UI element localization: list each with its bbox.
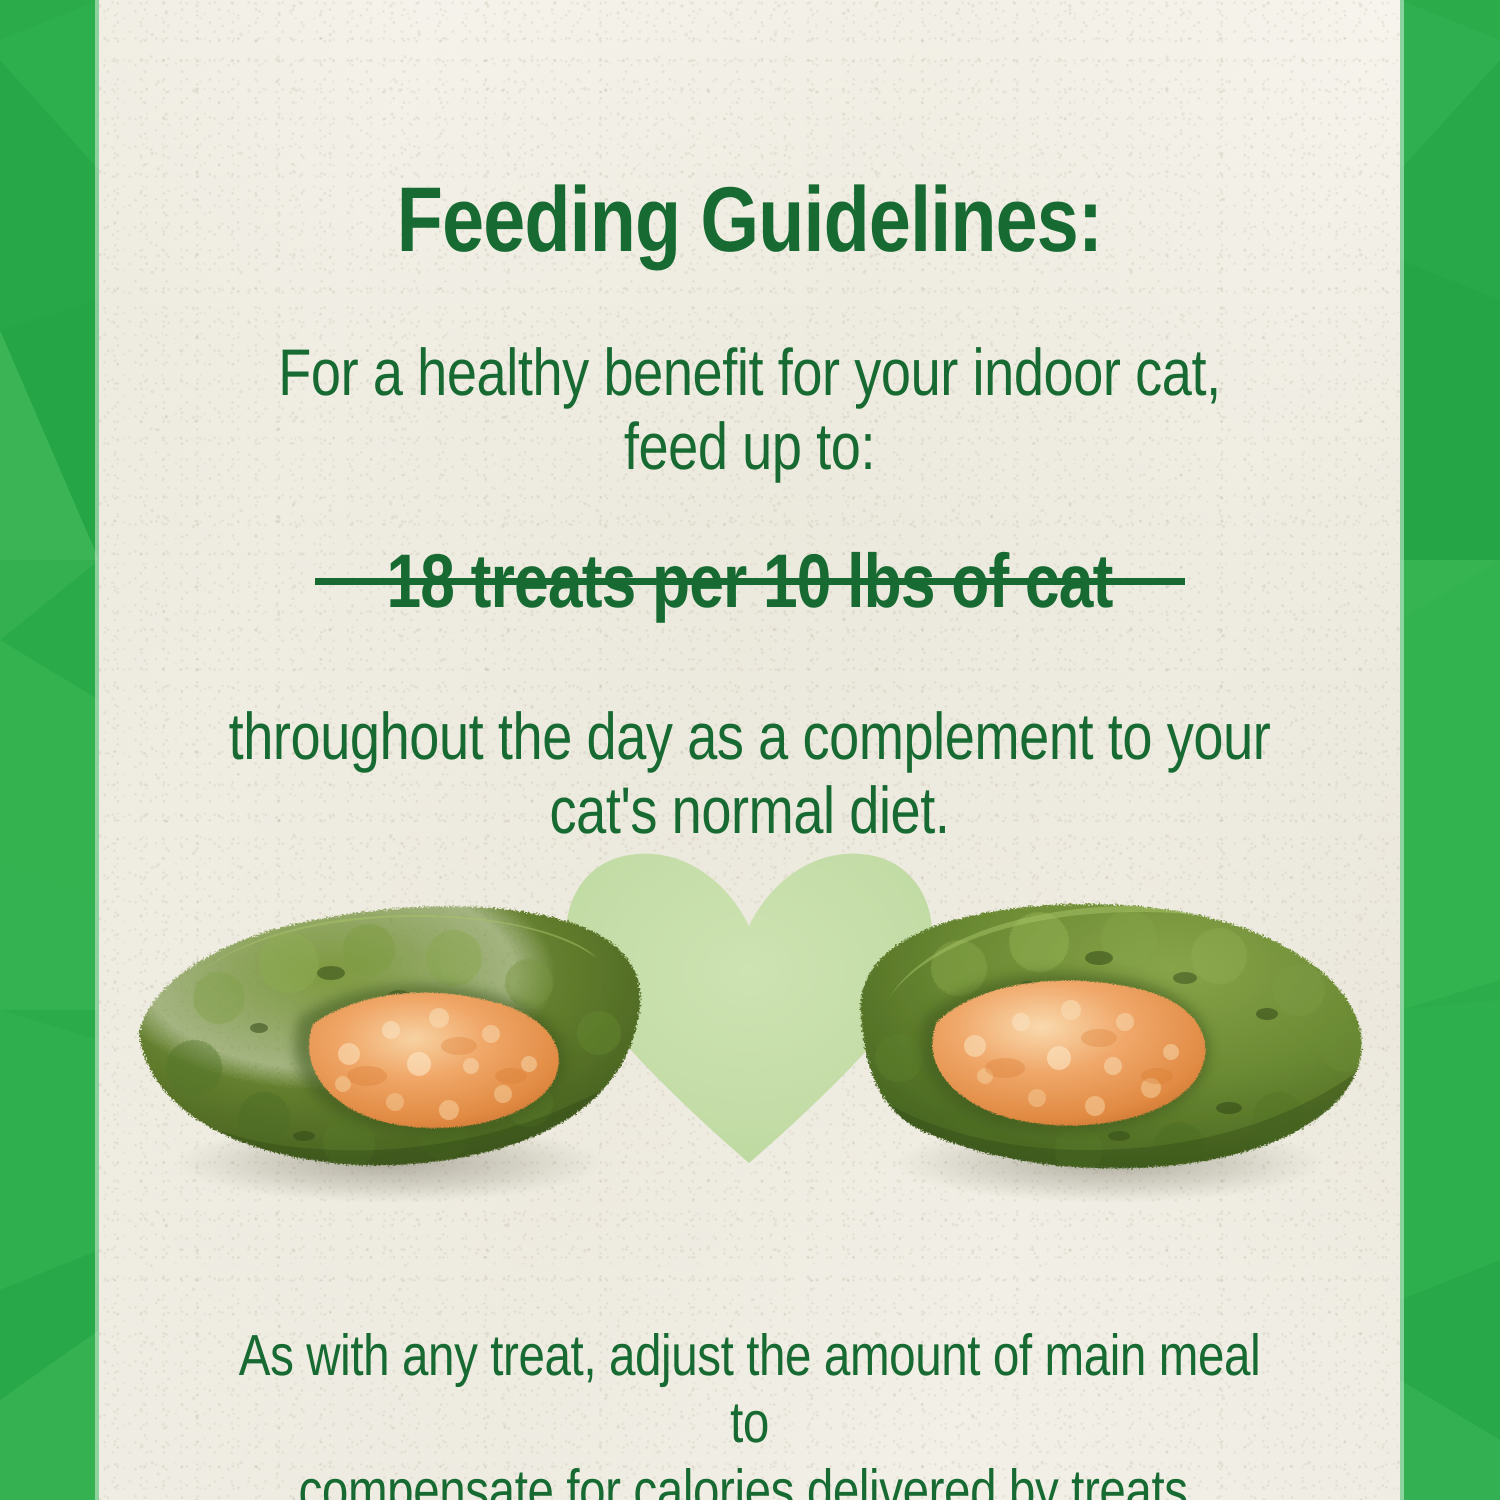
left-green-band xyxy=(0,0,99,1500)
right-green-band xyxy=(1400,0,1500,1500)
footnote-text: As with any treat, adjust the amount of … xyxy=(216,1322,1283,1500)
feeding-guidelines-panel: Feeding Guidelines: For a healthy benefi… xyxy=(0,0,1500,1500)
treats-illustration xyxy=(99,818,1400,1238)
right-treat-icon xyxy=(861,904,1369,1178)
product-photo xyxy=(99,818,1400,1238)
right-band-facets xyxy=(1400,0,1500,1500)
page-title: Feeding Guidelines: xyxy=(216,174,1283,266)
intro-text: For a healthy benefit for your indoor ca… xyxy=(216,336,1283,484)
content-column: Feeding Guidelines: For a healthy benefi… xyxy=(99,0,1400,1500)
left-treat-icon xyxy=(139,906,640,1178)
dosage-block: 18 treats per 10 lbs of cat xyxy=(99,468,1400,696)
dosage-underline xyxy=(315,578,1185,585)
left-band-facets xyxy=(0,0,99,1500)
